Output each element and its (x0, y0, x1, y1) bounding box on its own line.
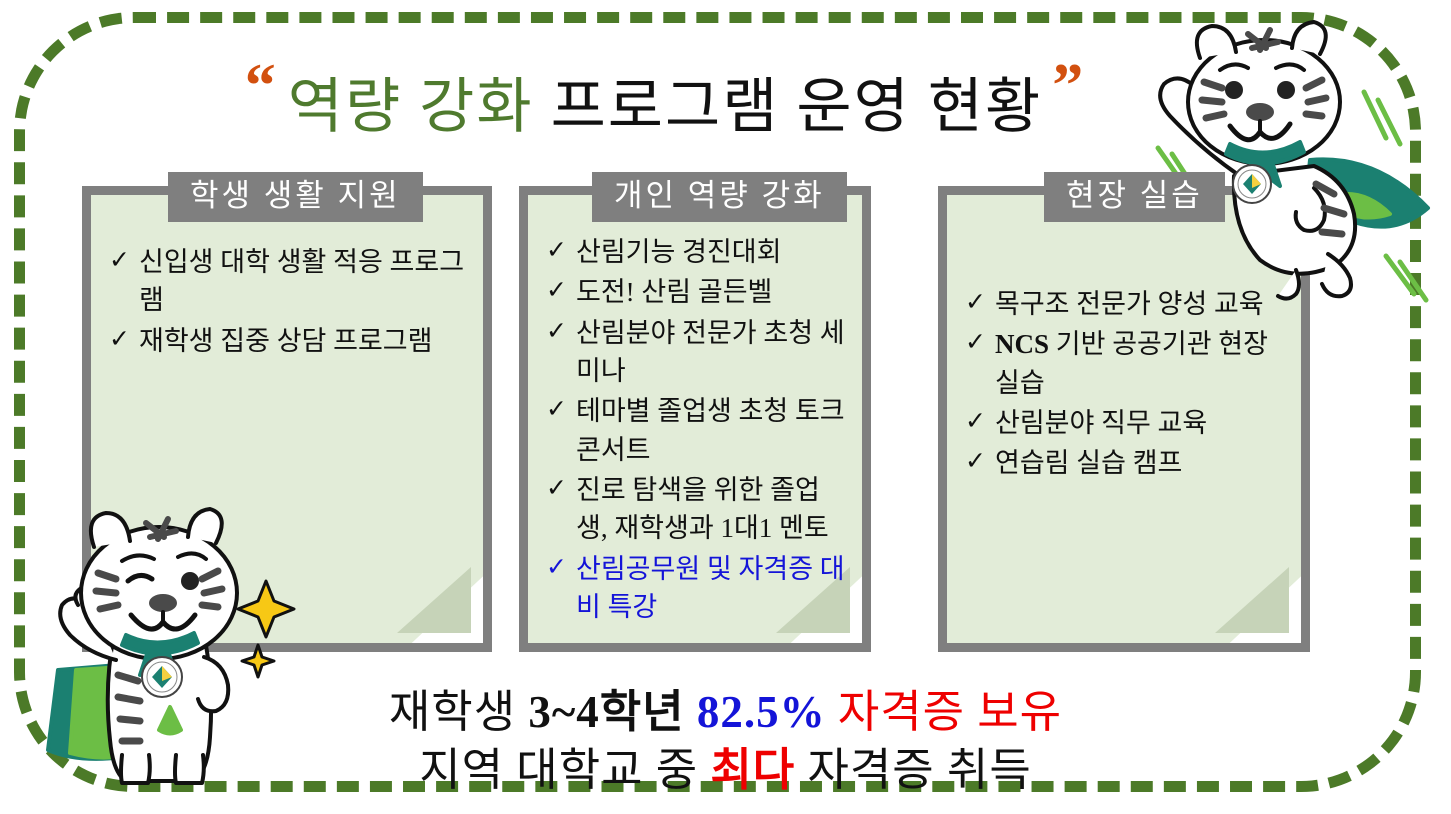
check-icon: ✓ (546, 550, 576, 586)
check-icon: ✓ (109, 322, 139, 358)
page-title: “역량 강화 프로그램 운영 현황” (120, 44, 1210, 148)
flying-tiger-mascot (1128, 8, 1448, 308)
check-icon: ✓ (546, 392, 576, 428)
list-item: ✓ 산림공무원 및 자격증 대비 특강 (546, 550, 846, 627)
list-item-label: 산림기능 경진대회 (576, 233, 846, 271)
list-item-label: 재학생 집중 상담 프로그램 (139, 322, 467, 360)
summary-l2-part3: 자격증 취득 (795, 745, 1032, 795)
list-item: ✓ 테마별 졸업생 초청 토크 콘서트 (546, 392, 846, 469)
card-personal-competency: ✓ 산림기능 경진대회 ✓ 도전! 산림 골든벨 ✓ 산림분야 전문가 초청 세… (519, 186, 871, 652)
check-icon: ✓ (109, 243, 139, 279)
summary-l1-grades: 3~4 (528, 687, 599, 737)
card-1-folded-corner (397, 567, 471, 633)
card-3-list: ✓ 목구조 전문가 양성 교육 ✓ NCS 기반 공공기관 현장 실습 ✓ 산림… (965, 285, 1285, 485)
summary-l2-most: 최다 (710, 745, 795, 795)
list-item-label: 테마별 졸업생 초청 토크 콘서트 (576, 392, 846, 469)
list-item: ✓ 산림분야 직무 교육 (965, 404, 1285, 442)
list-item: ✓ 재학생 집중 상담 프로그램 (109, 322, 467, 360)
open-quote-mark: “ (235, 52, 288, 120)
university-emblem-icon (142, 657, 182, 697)
title-rest: 프로그램 운영 현황 (551, 74, 1043, 140)
check-icon: ✓ (546, 233, 576, 269)
list-item: ✓ 진로 탐색을 위한 졸업생, 재학생과 1대1 멘토 (546, 471, 846, 548)
list-item-label: 산림분야 직무 교육 (995, 404, 1285, 442)
list-item-label: 도전! 산림 골든벨 (576, 273, 846, 311)
list-item: ✓ 도전! 산림 골든벨 (546, 273, 846, 311)
list-item: ✓ 연습림 실습 캠프 (965, 444, 1285, 482)
card-2-list: ✓ 산림기능 경진대회 ✓ 도전! 산림 골든벨 ✓ 산림분야 전문가 초청 세… (546, 233, 846, 628)
check-icon: ✓ (546, 273, 576, 309)
university-emblem-icon (1233, 165, 1271, 203)
summary-l1-percent: 82.5% (697, 687, 826, 737)
check-icon: ✓ (965, 444, 995, 480)
list-item-label: 산림분야 전문가 초청 세미나 (576, 314, 846, 391)
slide-canvas: “역량 강화 프로그램 운영 현황” ✓ 신입생 대학 생활 적응 프로그램 ✓… (0, 0, 1451, 814)
sparkle-icon (238, 581, 294, 677)
check-icon: ✓ (546, 314, 576, 350)
card-2-header: 개인 역량 강화 (592, 172, 847, 222)
card-1-list: ✓ 신입생 대학 생활 적응 프로그램 ✓ 재학생 집중 상담 프로그램 (109, 243, 467, 362)
check-icon: ✓ (965, 325, 995, 361)
summary-l1-part3: 학년 (600, 687, 697, 737)
list-item-label: 연습림 실습 캠프 (995, 444, 1285, 482)
summary-l2-part1: 지역 대학교 중 (419, 745, 710, 795)
list-item: ✓ 산림분야 전문가 초청 세미나 (546, 314, 846, 391)
list-item-label: 진로 탐색을 위한 졸업생, 재학생과 1대1 멘토 (576, 471, 846, 548)
card-3-header: 현장 실습 (1044, 172, 1225, 222)
card-1-header: 학생 생활 지원 (168, 172, 423, 222)
standing-tiger-mascot (18, 485, 318, 805)
check-icon: ✓ (965, 404, 995, 440)
summary-l1-part1: 재학생 (389, 687, 528, 737)
list-item: ✓ NCS 기반 공공기관 현장 실습 (965, 325, 1285, 402)
list-item-label: 신입생 대학 생활 적응 프로그램 (139, 243, 467, 320)
check-icon: ✓ (546, 471, 576, 507)
summary-l1-cert: 자격증 보유 (826, 687, 1063, 737)
list-item: ✓ 신입생 대학 생활 적응 프로그램 (109, 243, 467, 320)
list-item-label: NCS 기반 공공기관 현장 실습 (995, 325, 1285, 402)
check-icon: ✓ (965, 285, 995, 321)
card-3-folded-corner (1215, 567, 1289, 633)
title-highlight: 역량 강화 (288, 74, 534, 140)
list-item-label: 산림공무원 및 자격증 대비 특강 (576, 550, 846, 627)
close-quote-mark: ” (1042, 52, 1095, 120)
list-item: ✓ 산림기능 경진대회 (546, 233, 846, 271)
